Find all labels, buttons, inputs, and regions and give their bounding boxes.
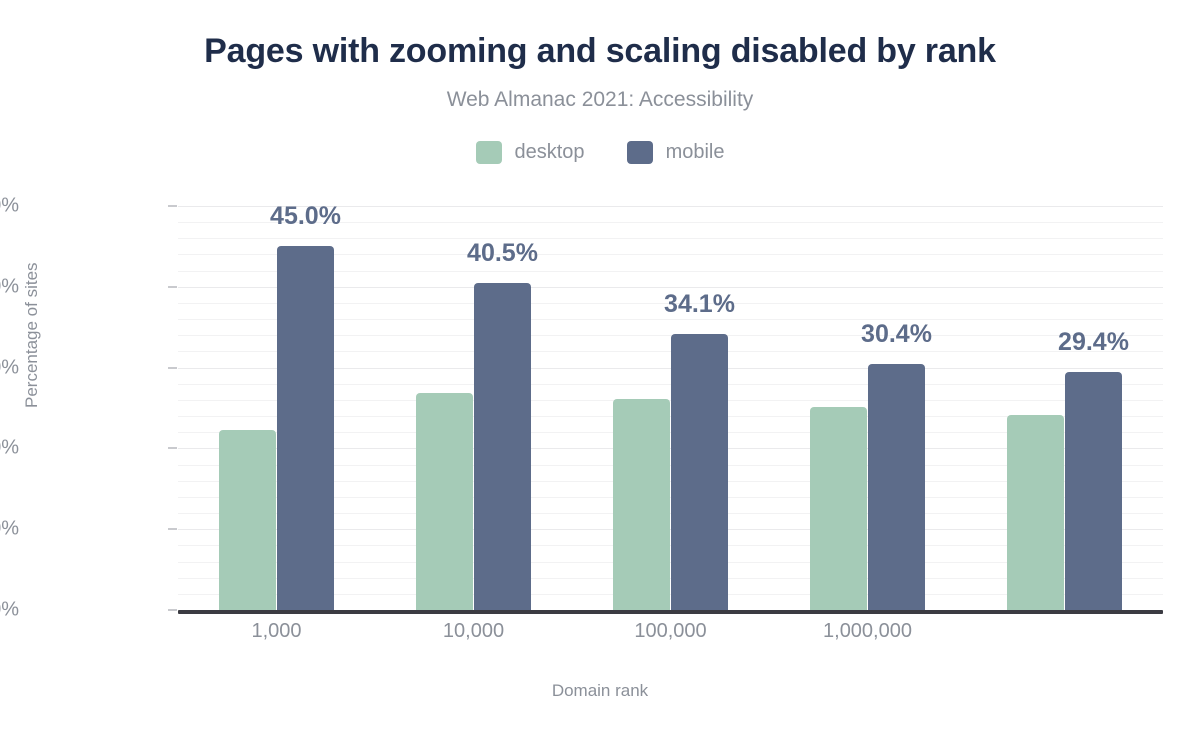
gridline-minor (178, 238, 1163, 239)
y-tick-mark (168, 609, 177, 611)
bar-value-label: 29.4% (1058, 328, 1129, 357)
y-tick-label: 30.0% (0, 356, 19, 379)
y-tick-label: 40.0% (0, 275, 19, 298)
bar-value-label: 34.1% (664, 290, 735, 319)
y-axis-title: Percentage of sites (22, 262, 42, 408)
bar-mobile[interactable] (277, 246, 334, 610)
chart-legend: desktopmobile (0, 141, 1200, 164)
plot-area: 45.0%40.5%34.1%30.4%29.4% (178, 206, 1163, 610)
y-tick-mark (168, 447, 177, 449)
legend-swatch-mobile-icon (627, 141, 653, 164)
bar-desktop[interactable] (416, 393, 473, 610)
x-tick-label: 1,000,000 (823, 620, 912, 643)
y-tick-label: 10.0% (0, 518, 19, 541)
y-tick-mark (168, 528, 177, 530)
y-tick-label: 50.0% (0, 195, 19, 218)
x-tick-label: 1,000 (251, 620, 301, 643)
legend-label: mobile (666, 141, 725, 164)
legend-item-mobile[interactable]: mobile (627, 141, 725, 164)
bar-desktop[interactable] (613, 399, 670, 610)
x-axis-baseline (178, 610, 1163, 614)
y-tick-label: 0.0% (0, 599, 19, 622)
y-tick-label: 20.0% (0, 437, 19, 460)
y-tick-mark (168, 367, 177, 369)
bar-mobile[interactable] (474, 283, 531, 610)
bar-chart: Pages with zooming and scaling disabled … (0, 0, 1200, 742)
y-tick-mark (168, 205, 177, 207)
bar-mobile[interactable] (1065, 372, 1122, 610)
x-axis-title: Domain rank (0, 681, 1200, 701)
legend-label: desktop (515, 141, 585, 164)
bar-value-label: 30.4% (861, 320, 932, 349)
x-tick-label: 100,000 (634, 620, 706, 643)
bar-desktop[interactable] (1007, 415, 1064, 610)
bar-value-label: 40.5% (467, 239, 538, 268)
bar-mobile[interactable] (868, 364, 925, 610)
chart-subtitle: Web Almanac 2021: Accessibility (0, 88, 1200, 112)
y-tick-mark (168, 286, 177, 288)
legend-swatch-desktop-icon (476, 141, 502, 164)
bar-desktop[interactable] (810, 407, 867, 610)
chart-title: Pages with zooming and scaling disabled … (0, 32, 1200, 71)
legend-item-desktop[interactable]: desktop (476, 141, 585, 164)
bar-mobile[interactable] (671, 334, 728, 610)
bar-value-label: 45.0% (270, 202, 341, 231)
x-tick-label: 10,000 (443, 620, 504, 643)
bar-desktop[interactable] (219, 430, 276, 610)
